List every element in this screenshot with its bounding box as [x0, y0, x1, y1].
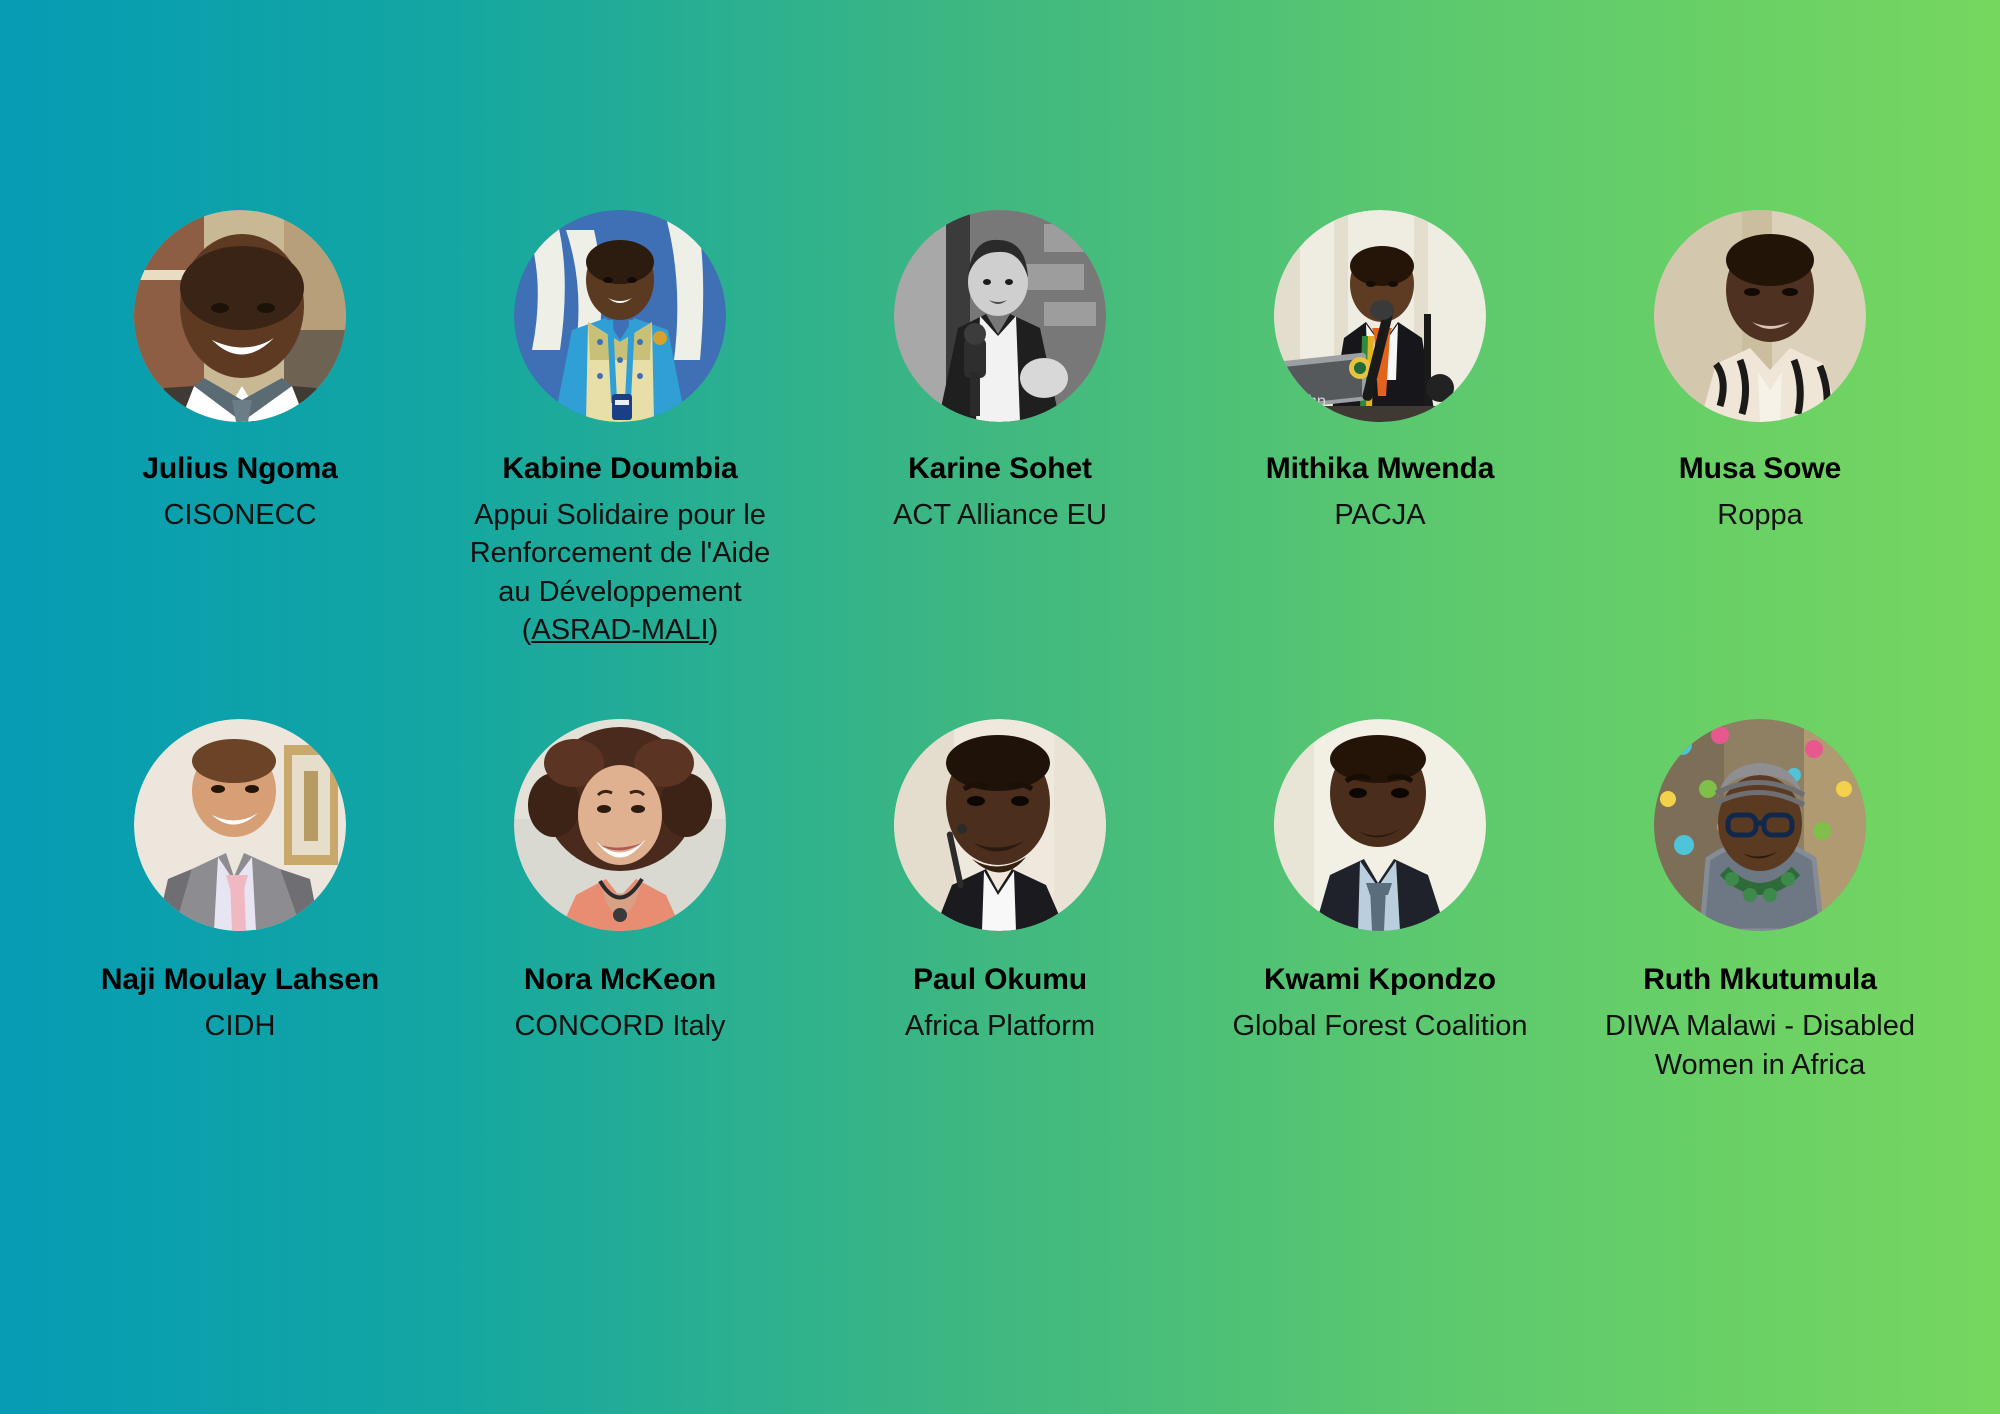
person-card: Kwami Kpondzo Global Forest Coalition — [1190, 719, 1570, 1045]
portrait-julius-ngoma-avatar — [134, 210, 346, 422]
person-name: Paul Okumu — [913, 961, 1087, 998]
person-org-text: CONCORD Italy — [514, 1010, 725, 1042]
portrait-karine-sohet-avatar — [894, 210, 1106, 422]
svg-text:hp: hp — [1308, 393, 1326, 410]
portrait-kwami-kpondzo-avatar — [1274, 719, 1486, 931]
person-org: CONCORD Italy — [514, 1007, 725, 1045]
speakers-row-2: Naji Moulay Lahsen CIDH — [50, 719, 1950, 1084]
portrait-nora-mckeon-avatar — [514, 719, 726, 931]
person-card: Nora McKeon CONCORD Italy — [430, 719, 810, 1045]
person-name: Ruth Mkutumula — [1643, 961, 1877, 998]
person-org-text: CIDH — [205, 1010, 276, 1042]
person-card: Ruth Mkutumula DIWA Malawi - Disabled Wo… — [1570, 719, 1950, 1084]
person-org: Appui Solidaire pour le Renforcement de … — [455, 496, 785, 649]
person-org-text: PACJA — [1334, 499, 1425, 531]
person-org: CISONECC — [163, 496, 316, 534]
person-card: Naji Moulay Lahsen CIDH — [50, 719, 430, 1045]
person-name: Kabine Doumbia — [502, 450, 737, 487]
person-org-text: DIWA Malawi - Disabled Women in Africa — [1605, 1010, 1915, 1080]
person-card: Kabine Doumbia Appui Solidaire pour le R… — [430, 210, 810, 649]
speakers-grid: Julius Ngoma CISONECC — [50, 210, 1950, 1084]
person-card: Karine Sohet ACT Alliance EU — [810, 210, 1190, 534]
person-org-text: Global Forest Coalition — [1233, 1010, 1528, 1042]
portrait-musa-sowe-avatar — [1654, 210, 1866, 422]
person-org-text: ACT Alliance EU — [893, 499, 1107, 531]
portrait-ruth-mkutumula-avatar — [1654, 719, 1866, 931]
person-card: Julius Ngoma CISONECC — [50, 210, 430, 534]
person-org: PACJA — [1334, 496, 1425, 534]
person-name: Naji Moulay Lahsen — [101, 961, 379, 998]
portrait-mithika-mwenda-avatar: hp — [1274, 210, 1486, 422]
person-org: CIDH — [205, 1007, 276, 1045]
person-org: ACT Alliance EU — [893, 496, 1107, 534]
portrait-naji-moulay-lahsen-avatar — [134, 719, 346, 931]
person-org: DIWA Malawi - Disabled Women in Africa — [1595, 1007, 1925, 1084]
portrait-kabine-doumbia-avatar — [514, 210, 726, 422]
person-org-text: CISONECC — [163, 499, 316, 531]
person-name: Karine Sohet — [908, 450, 1092, 487]
person-name: Nora McKeon — [524, 961, 716, 998]
person-org-text: Africa Platform — [905, 1010, 1095, 1042]
person-name: Kwami Kpondzo — [1264, 961, 1496, 998]
portrait-paul-okumu-avatar — [894, 719, 1106, 931]
person-org: Roppa — [1717, 496, 1802, 534]
speakers-board: Julius Ngoma CISONECC — [0, 0, 2000, 1414]
person-org-tail: ) — [709, 614, 719, 646]
person-org: Global Forest Coalition — [1233, 1007, 1528, 1045]
person-card: Musa Sowe Roppa — [1570, 210, 1950, 534]
person-org: Africa Platform — [905, 1007, 1095, 1045]
person-name: Julius Ngoma — [142, 450, 338, 487]
speakers-row-1: Julius Ngoma CISONECC — [50, 210, 1950, 649]
person-card: Paul Okumu Africa Platform — [810, 719, 1190, 1045]
person-org-link[interactable]: ASRAD-MALI — [531, 614, 708, 646]
person-name: Mithika Mwenda — [1266, 450, 1495, 487]
person-name: Musa Sowe — [1679, 450, 1841, 487]
person-org-text: Roppa — [1717, 499, 1802, 531]
person-card: hp Mithika Mwenda PACJA — [1190, 210, 1570, 534]
